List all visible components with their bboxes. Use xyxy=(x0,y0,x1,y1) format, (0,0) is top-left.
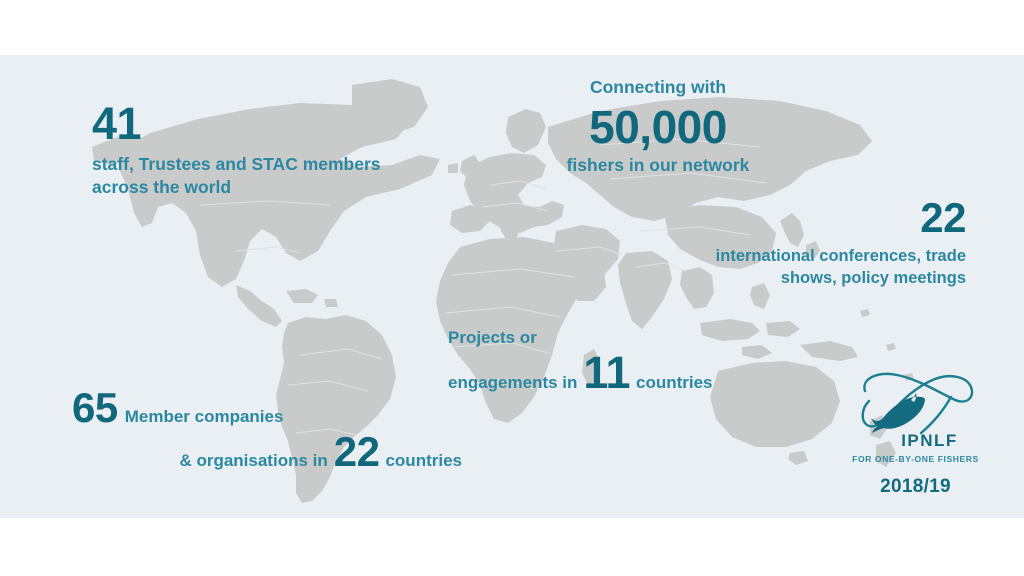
stat-fishers: Connecting with 50,000 fishers in our ne… xyxy=(538,77,778,175)
stat-members-number-1: 65 xyxy=(72,387,118,429)
stat-conferences-number: 22 xyxy=(920,197,966,239)
stat-members: 65 Member companies & organisations in 2… xyxy=(72,387,472,473)
stat-conferences-caption: international conferences, trade shows, … xyxy=(706,245,966,290)
stat-projects-caption-post: countries xyxy=(636,372,713,395)
stat-members-caption-2-post: countries xyxy=(385,451,462,471)
stat-fishers-caption-top: Connecting with xyxy=(538,77,778,98)
ipnlf-tagline: FOR ONE-BY-ONE FISHERS xyxy=(843,454,988,464)
stat-members-number-2: 22 xyxy=(334,431,380,473)
stat-members-caption-2-pre: & organisations in xyxy=(179,451,327,471)
infographic-stage: 41 staff, Trustees and STAC members acro… xyxy=(0,0,1024,576)
stat-members-line1: 65 Member companies xyxy=(72,387,472,429)
stat-fishers-caption-bottom: fishers in our network xyxy=(538,155,778,176)
stat-members-caption-1: Member companies xyxy=(125,407,284,427)
ipnlf-logo-block: IPNLF FOR ONE-BY-ONE FISHERS 2018/19 xyxy=(843,367,988,498)
stat-conferences: 22 international conferences, trade show… xyxy=(706,197,966,290)
content-band: 41 staff, Trustees and STAC members acro… xyxy=(0,55,1024,518)
stat-projects: Projects or engagements in 11 countries xyxy=(448,327,728,395)
stat-projects-line2: engagements in 11 countries xyxy=(448,350,728,395)
stat-staff-number: 41 xyxy=(92,101,141,146)
ipnlf-year: 2018/19 xyxy=(843,476,988,498)
stat-staff-caption: staff, Trustees and STAC members across … xyxy=(92,153,392,199)
stat-members-line2: & organisations in 22 countries xyxy=(72,431,472,473)
ipnlf-wordmark: IPNLF xyxy=(857,431,1002,451)
stat-staff: 41 staff, Trustees and STAC members acro… xyxy=(92,101,392,199)
stat-projects-number: 11 xyxy=(583,350,630,395)
stat-fishers-number: 50,000 xyxy=(538,104,778,150)
